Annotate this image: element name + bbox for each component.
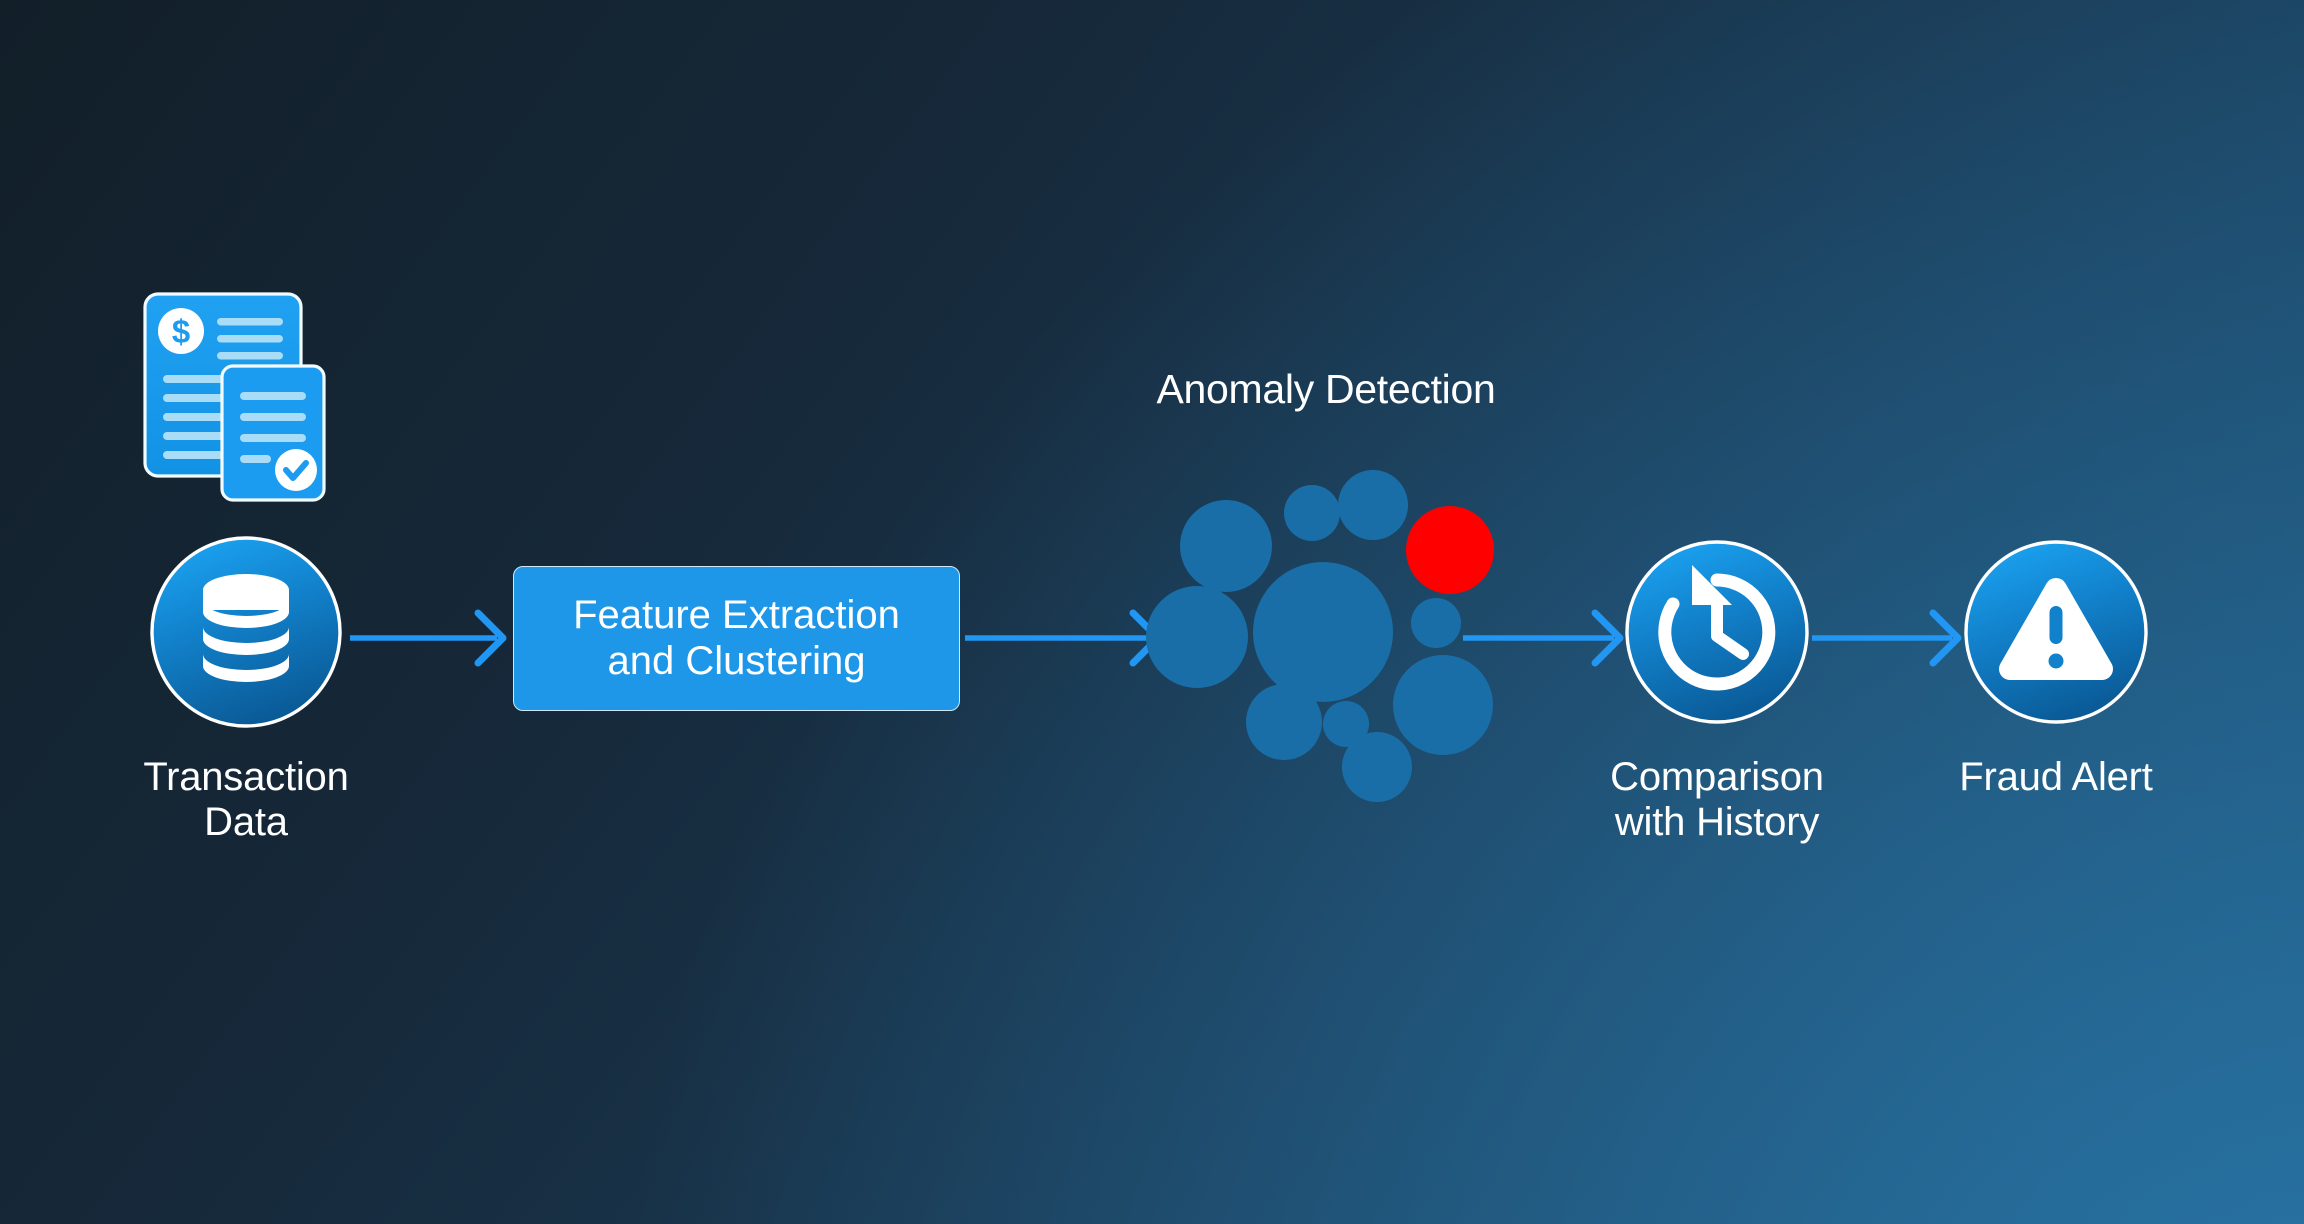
cluster-dot <box>1338 470 1408 540</box>
arrow-data-to-features <box>350 613 503 663</box>
cluster-dot-center <box>1253 562 1393 702</box>
arrow-history-to-alert <box>1812 613 1958 663</box>
anomaly-detection-title: Anomaly Detection <box>1026 366 1626 413</box>
comparison-history-node[interactable] <box>1627 542 1807 722</box>
diagram-svg: $ <box>0 0 2304 1224</box>
cluster-dot <box>1284 485 1340 541</box>
cluster-dot <box>1411 598 1461 648</box>
cluster-dot <box>1180 500 1272 592</box>
transaction-data-node[interactable] <box>152 538 340 726</box>
diagram-canvas: $ <box>0 0 2304 1224</box>
arrow-features-to-cluster <box>965 613 1158 663</box>
anomaly-dot <box>1406 506 1494 594</box>
transaction-documents-icon: $ <box>145 294 324 500</box>
feature-extraction-label: Feature Extraction and Clustering <box>514 592 959 686</box>
feature-extraction-box[interactable]: Feature Extraction and Clustering <box>513 566 960 711</box>
svg-text:$: $ <box>172 313 190 350</box>
cluster-dot <box>1146 586 1248 688</box>
document-front <box>222 366 324 500</box>
arrow-cluster-to-history <box>1463 613 1620 663</box>
anomaly-cluster[interactable] <box>1146 470 1494 802</box>
cluster-dot <box>1393 655 1493 755</box>
cluster-dot <box>1342 732 1412 802</box>
fraud-alert-node[interactable] <box>1966 542 2146 722</box>
